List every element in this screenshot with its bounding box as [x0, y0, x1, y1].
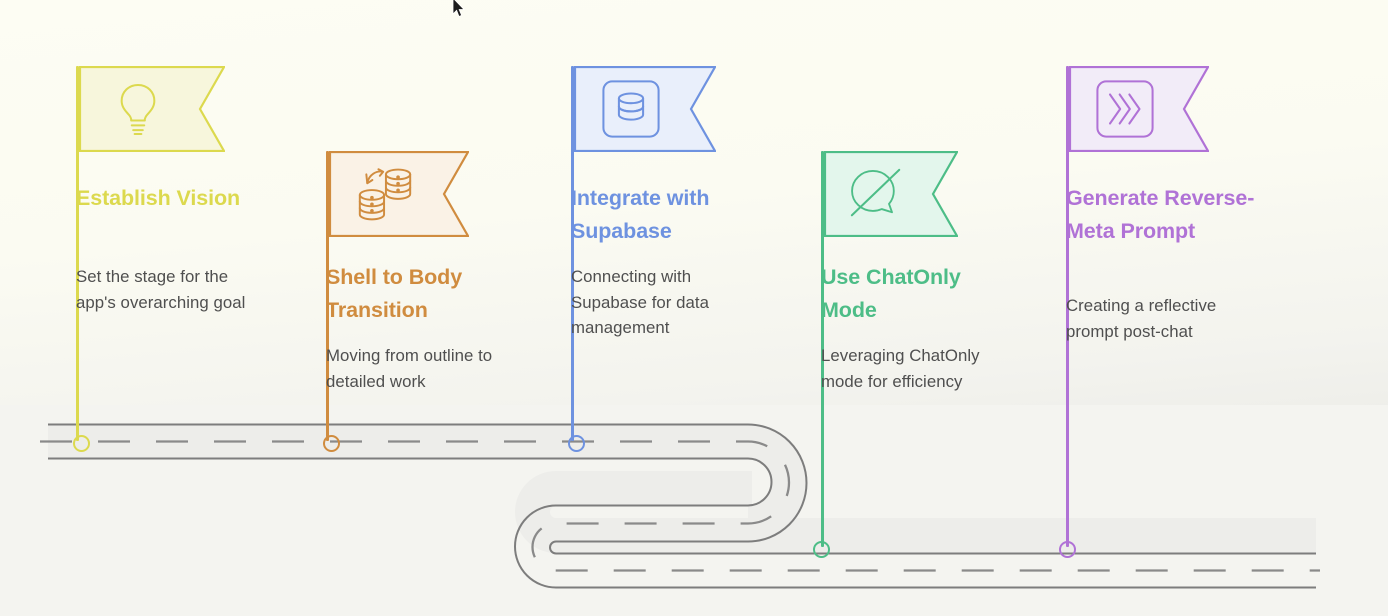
milestone-icon-wrap	[329, 151, 441, 237]
milestone-road-marker[interactable]	[813, 541, 830, 558]
milestone-flag[interactable]	[79, 66, 225, 152]
database-transfer-icon	[356, 166, 414, 222]
database-boxed-icon	[601, 79, 661, 139]
milestone-road-marker[interactable]	[323, 435, 340, 452]
milestone-description: Moving from outline to detailed work	[326, 343, 526, 394]
milestone-flag[interactable]	[329, 151, 469, 237]
milestone-icon-wrap	[824, 151, 930, 237]
milestone-title: Integrate with Supabase	[571, 182, 767, 247]
milestone-flag[interactable]	[1069, 66, 1209, 152]
milestone-title: Generate Reverse-Meta Prompt	[1066, 182, 1266, 247]
milestone-flag[interactable]	[574, 66, 716, 152]
lightbulb-icon	[113, 81, 163, 137]
milestone-icon-wrap	[574, 66, 688, 152]
milestone-icon-wrap	[1069, 66, 1181, 152]
milestone-icon-wrap	[79, 66, 197, 152]
milestone-description: Set the stage for the app's overarching …	[76, 264, 272, 315]
milestone-description: Connecting with Supabase for data manage…	[571, 264, 767, 341]
milestone-road-marker[interactable]	[73, 435, 90, 452]
milestone-description: Creating a reflective prompt post-chat	[1066, 293, 1266, 344]
milestone-title: Establish Vision	[76, 182, 272, 215]
road-band-mid	[556, 471, 752, 506]
roadmap-diagram: Establish VisionSet the stage for the ap…	[0, 0, 1388, 616]
milestone-flag[interactable]	[824, 151, 958, 237]
milestone-title: Use ChatOnly Mode	[821, 261, 1021, 326]
milestone-description: Leveraging ChatOnly mode for efficiency	[821, 343, 1021, 394]
chat-disabled-icon	[848, 166, 906, 222]
road-band-lower	[556, 518, 1316, 553]
milestone-road-marker[interactable]	[1059, 541, 1076, 558]
milestone-road-marker[interactable]	[568, 435, 585, 452]
milestone-title: Shell to Body Transition	[326, 261, 526, 326]
mouse-pointer-icon	[452, 0, 466, 18]
triple-chevron-icon	[1095, 79, 1155, 139]
